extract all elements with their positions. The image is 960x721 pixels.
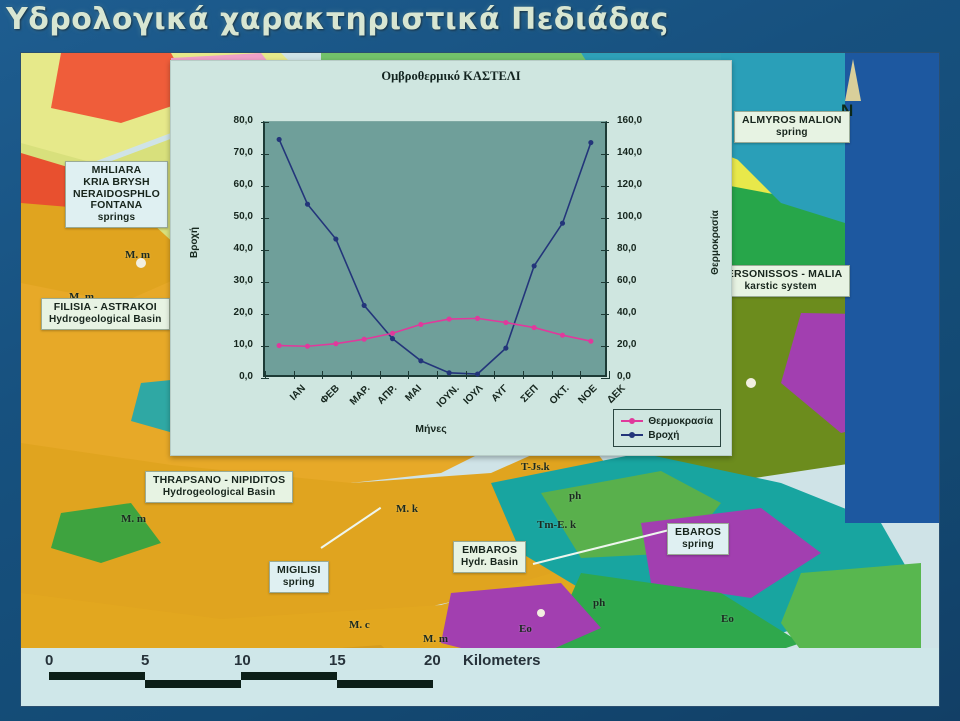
callout-subtitle: Hydr. Basin <box>461 557 518 568</box>
chart-axis-tick-icon <box>261 346 269 347</box>
chart-y2-tick: 60,0 <box>617 275 663 286</box>
geology-code-label: M. k <box>396 503 418 515</box>
callout-line-3: NERAIDOSPHLO <box>73 188 160 200</box>
scale-tick: 15 <box>329 652 346 669</box>
compass-needle-icon <box>845 59 861 101</box>
chart-y-tick: 40,0 <box>207 243 253 254</box>
callout-line-1: FILISIA - ASTRAKOI <box>54 301 157 313</box>
chart-axis-tick-icon <box>261 122 269 123</box>
callout-subtitle: spring <box>742 127 842 138</box>
geology-code-label: ph <box>569 490 581 502</box>
map-scale-bar: 0 5 10 15 20 Kilometers <box>21 648 939 706</box>
chart-y-tick: 80,0 <box>207 115 253 126</box>
geology-code-label: T-Js.k <box>521 461 550 473</box>
chart-axis-tick-icon <box>494 371 495 379</box>
callout-line-2: KRIA BRYSH <box>83 176 150 188</box>
chart-x-tick: ΔΕΚ <box>605 383 628 406</box>
geology-code-label: Eo <box>519 623 532 635</box>
callout-line-1: MHLIARA <box>92 164 142 176</box>
scale-unit-label: Kilometers <box>463 652 541 669</box>
chart-axis-tick-icon <box>261 186 269 187</box>
map-label-mhliara-springs[interactable]: MHLIARA KRIA BRYSH NERAIDOSPHLO FONTANA … <box>65 161 168 228</box>
scale-tick: 0 <box>45 652 53 669</box>
chart-legend[interactable]: Θερμοκρασία Βροχή <box>613 409 721 447</box>
chart-y2-tick: 100,0 <box>617 211 663 222</box>
callout-line-1: EBAROS <box>675 526 721 538</box>
chart-axis-tick-icon <box>601 250 609 251</box>
chart-axis-tick-icon <box>601 346 609 347</box>
chart-x-tick: ΦΕΒ <box>318 383 341 406</box>
map-label-embaros-basin[interactable]: EMBAROS Hydr. Basin <box>453 541 526 573</box>
chart-x-tick: ΙΟΥΝ. <box>435 383 462 410</box>
chart-y2-tick: 20,0 <box>617 339 663 350</box>
chart-y2-tick: 0,0 <box>617 371 663 382</box>
callout-line-1: EMBAROS <box>462 544 517 556</box>
chart-x-tick: ΜΑΙ <box>403 383 424 404</box>
chart-axis-tick-icon <box>601 378 609 379</box>
chart-y-tick: 0,0 <box>207 371 253 382</box>
callout-line-1: HERSONISSOS - MALIA <box>719 268 842 280</box>
legend-item-rain: Βροχή <box>621 428 713 442</box>
chart-axis-tick-icon <box>466 371 467 379</box>
geology-code-label: Eo <box>721 613 734 625</box>
chart-y2-tick: 160,0 <box>617 115 663 126</box>
scale-tick-labels: 0 5 10 15 20 Kilometers <box>31 652 551 670</box>
chart-y2-tick: 140,0 <box>617 147 663 158</box>
chart-axis-tick-icon <box>601 218 609 219</box>
callout-subtitle: spring <box>675 539 721 550</box>
chart-x-tick: ΝΟΕ <box>576 383 599 406</box>
callout-subtitle: karstic system <box>719 281 842 292</box>
chart-x-tick: ΙΟΥΛ <box>462 383 486 407</box>
chart-x-axis-label: Μήνες <box>231 423 631 435</box>
map-label-thrapsano-nipiditos-basin[interactable]: THRAPSANO - NIPIDITOS Hydrogeological Ba… <box>145 471 293 503</box>
chart-y-tick: 50,0 <box>207 211 253 222</box>
geology-code-label: ph <box>593 597 605 609</box>
chart-y-tick: 20,0 <box>207 307 253 318</box>
chart-axis-tick-icon <box>580 371 581 379</box>
geology-code-label: M. m <box>423 633 448 645</box>
callout-line-1: MIGILISI <box>277 564 321 576</box>
chart-axis-tick-icon <box>601 122 609 123</box>
legend-item-temperature: Θερμοκρασία <box>621 414 713 428</box>
chart-axis-tick-icon <box>261 282 269 283</box>
chart-x-tick: ΜΑΡ. <box>348 383 373 408</box>
chart-y-tick: 60,0 <box>207 179 253 190</box>
chart-axis-tick-icon <box>601 186 609 187</box>
chart-axis-tick-icon <box>322 371 323 379</box>
chart-axis-tick-icon <box>609 371 610 379</box>
chart-axis-tick-icon <box>261 218 269 219</box>
ombrothermic-chart-panel[interactable]: Ομβροθερμικό ΚΑΣΤΕΛΙ Βροχή Θερμοκρασία 0… <box>170 60 732 456</box>
chart-x-tick: ΑΥΓ <box>490 383 511 404</box>
callout-line-1: THRAPSANO - NIPIDITOS <box>153 474 285 486</box>
scale-bar-graphic <box>49 672 439 690</box>
chart-plot-area <box>263 121 607 377</box>
chart-x-tick: ΑΠΡ. <box>376 383 400 407</box>
chart-axis-tick-icon <box>523 371 524 379</box>
chart-y2-tick: 120,0 <box>617 179 663 190</box>
chart-axis-tick-icon <box>351 371 352 379</box>
geology-code-label: Tm-E. k <box>537 519 576 531</box>
legend-label: Βροχή <box>648 430 679 441</box>
chart-axis-tick-icon <box>601 282 609 283</box>
geology-code-label: M. m <box>121 513 146 525</box>
chart-series-layer <box>265 122 605 375</box>
slide-root: Υδρολογικά χαρακτηριστικά Πεδιάδας <box>0 0 960 721</box>
chart-x-tick: ΙΑΝ <box>288 383 308 403</box>
callout-line-4: FONTANA <box>91 199 143 211</box>
chart-y2-tick: 80,0 <box>617 243 663 254</box>
chart-axis-tick-icon <box>294 371 295 379</box>
callout-line-1: ALMYROS MALION <box>742 114 842 126</box>
geology-code-label: M. m <box>125 249 150 261</box>
scale-tick: 5 <box>141 652 149 669</box>
chart-axis-tick-icon <box>408 371 409 379</box>
chart-axis-tick-icon <box>261 154 269 155</box>
chart-axis-tick-icon <box>437 371 438 379</box>
chart-axis-tick-icon <box>552 371 553 379</box>
callout-subtitle: Hydrogeological Basin <box>153 487 285 498</box>
chart-y2-axis-label: Θερμοκρασία <box>710 210 721 275</box>
chart-x-tick: ΟΚΤ. <box>548 383 572 407</box>
scale-tick: 20 <box>424 652 441 669</box>
chart-axis-tick-icon <box>261 250 269 251</box>
chart-y2-tick: 40,0 <box>617 307 663 318</box>
chart-title: Ομβροθερμικό ΚΑΣΤΕΛΙ <box>171 69 731 84</box>
callout-subtitle: Hydrogeological Basin <box>49 314 162 325</box>
map-label-ebaros-spring[interactable]: EBAROS spring <box>667 523 729 555</box>
scale-tick: 10 <box>234 652 251 669</box>
chart-x-tick: ΣΕΠ <box>518 383 540 405</box>
callout-subtitle: springs <box>73 212 160 223</box>
chart-axis-tick-icon <box>380 371 381 379</box>
map-label-filisia-astrakoi-basin[interactable]: FILISIA - ASTRAKOI Hydrogeological Basin <box>41 298 170 330</box>
legend-swatch-rain-icon <box>621 434 643 436</box>
map-label-almyros-malion-spring[interactable]: ALMYROS MALION spring <box>734 111 850 143</box>
legend-label: Θερμοκρασία <box>648 416 713 427</box>
map-label-migilisi-spring[interactable]: MIGILISI spring <box>269 561 329 593</box>
chart-axis-tick-icon <box>261 314 269 315</box>
legend-swatch-temperature-icon <box>621 420 643 422</box>
chart-y-axis-label: Βροχή <box>189 227 200 258</box>
chart-y-tick: 10,0 <box>207 339 253 350</box>
chart-y-tick: 70,0 <box>207 147 253 158</box>
chart-y-tick: 30,0 <box>207 275 253 286</box>
chart-axis-tick-icon <box>601 154 609 155</box>
page-title: Υδρολογικά χαρακτηριστικά Πεδιάδας <box>6 2 726 50</box>
geology-code-label: M. c <box>349 619 370 631</box>
callout-subtitle: spring <box>277 577 321 588</box>
chart-axis-tick-icon <box>601 314 609 315</box>
chart-axis-tick-icon <box>265 371 266 379</box>
